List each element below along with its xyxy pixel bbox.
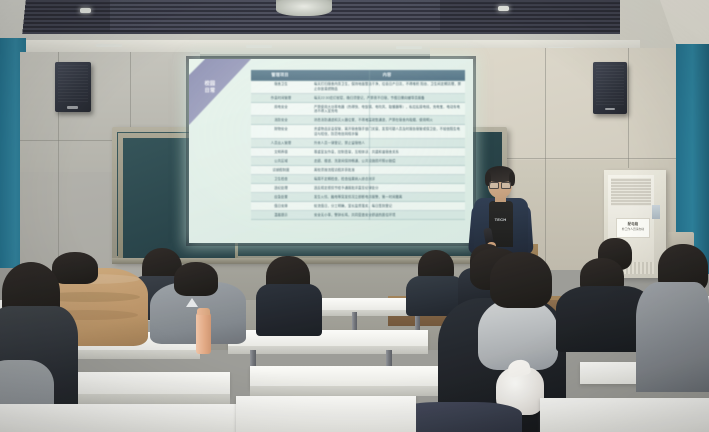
- student-tan-puffer-hair: [52, 252, 98, 284]
- table-cell-label: 消防安全: [251, 116, 311, 124]
- classroom-photo: 校园 日常 管理项目 内容 宿舍卫生每天打扫宿舍内务卫生，保持地面整洁干净，垃圾…: [0, 0, 709, 432]
- cabinet-vents: [611, 178, 651, 206]
- desk-row2: [250, 366, 470, 388]
- ceiling-slats-center: [110, 0, 440, 30]
- table-row: 消防安全熟悉消防通道和灭火器位置，不得堵塞疏散通道，严禁在宿舍内吸烟、使用明火: [251, 116, 465, 125]
- table-row: 值日安排轮流值日，分工明确，室长监督落实，每日签到登记: [251, 202, 465, 211]
- glasses-lens-left: [489, 182, 499, 189]
- student-gray-hoodie-hair: [174, 262, 218, 296]
- table-row: 温馨提示安全无小事，警钟长鸣，共同营造安全舒适的居住环境: [251, 211, 465, 220]
- table-cell-label: 请销假制度: [251, 166, 311, 174]
- slide-corner-notch: [189, 59, 205, 75]
- presenter-shirt-logo: TECH: [493, 218, 508, 226]
- desk-row1: [0, 404, 270, 432]
- speaker-grille: [596, 65, 625, 105]
- glasses-lens-right: [501, 182, 511, 189]
- table-cell-label: 文明养德: [251, 148, 311, 156]
- desk-edge: [250, 386, 470, 396]
- projected-slide: 校园 日常 管理项目 内容 宿舍卫生每天打扫宿舍内务卫生，保持地面整洁干净，垃圾…: [189, 59, 473, 243]
- table-row: 人员出入管理外来人员一律登记，禁止留宿他人: [251, 139, 465, 148]
- desk-row1-right: [540, 398, 709, 432]
- table-header-row: 管理项目 内容: [251, 70, 465, 81]
- table-cell-text: 安全无小事，警钟长鸣，共同营造安全舒适的居住环境: [311, 211, 465, 219]
- ceiling-light: [80, 8, 91, 13]
- ceiling-light: [498, 6, 509, 11]
- table-body: 宿舍卫生每天打扫宿舍内务卫生，保持地面整洁干净，垃圾日产日清，不得堆积 阳台、卫…: [251, 81, 465, 220]
- pink-thermos-bottle: [196, 312, 211, 354]
- table-header-cell: 管理项目: [251, 70, 309, 80]
- table-header-cell: 内容: [309, 70, 465, 80]
- table-cell-text: 每天打扫宿舍内务卫生，保持地面整洁干净，垃圾日产日清，不得堆积 阳台、卫生间定期…: [311, 81, 465, 93]
- table-row: 宿舍卫生每天打扫宿舍内务卫生，保持地面整洁干净，垃圾日产日清，不得堆积 阳台、卫…: [251, 81, 465, 94]
- table-cell-text: 违反规定视情节给予通报批评直至纪律处分: [311, 184, 465, 192]
- table-cell-label: 违纪处理: [251, 184, 311, 192]
- table-row: 作息时间管理每天22:30熄灯就寝，晚归须登记，严禁夜不归宿，节假日需向辅导员报…: [251, 94, 465, 103]
- desk-row1-center: [236, 396, 416, 432]
- table-cell-text: 每周不定期检查，检查结果纳入综合测评: [311, 175, 465, 183]
- speaker-led: [605, 108, 615, 111]
- student-navy-right: [636, 282, 709, 392]
- slide-corner-label: 校园 日常: [195, 81, 225, 94]
- table-cell-text: 外来人员一律登记，禁止留宿他人: [311, 139, 465, 147]
- table-cell-label: 人员出入管理: [251, 139, 311, 147]
- table-cell-text: 熟悉消防通道和灭火器位置，不得堵塞疏散通道，严禁在宿舍内吸烟、使用明火: [311, 116, 465, 124]
- thermos-cap: [197, 308, 210, 315]
- table-row: 公共区域走廊、楼道、洗漱间保持畅通，公共设施损坏照价赔偿: [251, 157, 465, 166]
- right-wall-speaker: [593, 62, 627, 114]
- table-row: 卫生检查每周不定期检查，检查结果纳入综合测评: [251, 175, 465, 184]
- student-black-top-back: [256, 284, 322, 336]
- table-cell-label: 卫生检查: [251, 175, 311, 183]
- slide-corner-label-line2: 日常: [195, 88, 225, 95]
- table-cell-text: 尊重室友作息，控制音量，互相体谅，共建和谐宿舍关系: [311, 148, 465, 156]
- table-row: 文明养德尊重室友作息，控制音量，互相体谅，共建和谐宿舍关系: [251, 148, 465, 157]
- table-row: 财物安全贵重物品妥善保管，离开宿舍随手锁门关窗，发现可疑人员及时报告宿管或保卫处…: [251, 125, 465, 138]
- cabinet-sign-title: 配电箱: [617, 219, 649, 227]
- desk-edge: [228, 346, 428, 354]
- table-cell-label: 财物安全: [251, 125, 311, 137]
- table-cell-text: 严禁使用大功率电器（热得快、电饭锅、电吹风、取暖器等），私拉乱接电线，充电宝、电…: [311, 103, 465, 115]
- table-cell-text: 离校须按流程请假并获批准: [311, 166, 465, 174]
- cabinet-sign: 配电箱 非工作人员请勿动: [616, 218, 650, 238]
- table-cell-label: 作息时间管理: [251, 94, 311, 102]
- glasses-icon: [489, 182, 511, 188]
- projector-fixture: [276, 0, 332, 16]
- cabinet-sign-subtitle: 非工作人员请勿动: [617, 227, 649, 231]
- slide-table: 管理项目 内容 宿舍卫生每天打扫宿舍内务卫生，保持地面整洁干净，垃圾日产日清，不…: [251, 70, 465, 220]
- table-cell-text: 轮流值日，分工明确，室长监督落实，每日签到登记: [311, 202, 465, 210]
- table-cell-label: 温馨提示: [251, 211, 311, 219]
- wall-seam: [628, 48, 629, 168]
- table-cell-text: 每天22:30熄灯就寝，晚归须登记，严禁夜不归宿，节假日需向辅导员报备: [311, 94, 465, 102]
- table-row: 应急处置发生火情、触电等突发情况立即断电并报警，第一时间撤离: [251, 193, 465, 202]
- student-gray-hood-hair: [490, 252, 552, 308]
- table-row: 用电安全严禁使用大功率电器（热得快、电饭锅、电吹风、取暖器等），私拉乱接电线，充…: [251, 103, 465, 116]
- table-cell-text: 走廊、楼道、洗漱间保持畅通，公共设施损坏照价赔偿: [311, 157, 465, 165]
- table-cell-label: 值日安排: [251, 202, 311, 210]
- table-row: 请销假制度离校须按流程请假并获批准: [251, 166, 465, 175]
- table-cell-label: 公共区域: [251, 157, 311, 165]
- table-row: 违纪处理违反规定视情节给予通报批评直至纪律处分: [251, 184, 465, 193]
- table-cell-label: 应急处置: [251, 193, 311, 201]
- table-cell-label: 用电安全: [251, 103, 311, 115]
- soffit-led: [96, 44, 122, 47]
- soffit-led: [246, 45, 272, 48]
- table-cell-text: 贵重物品妥善保管，离开宿舍随手锁门关窗，发现可疑人员及时报告宿管或保卫处，不轻信…: [311, 125, 465, 137]
- table-cell-label: 宿舍卫生: [251, 81, 311, 93]
- speaker-led: [67, 106, 78, 109]
- table-column-separator: [369, 70, 370, 220]
- table-cell-text: 发生火情、触电等突发情况立即断电并报警，第一时间撤离: [311, 193, 465, 201]
- cabinet-control-panel: [652, 205, 660, 219]
- soffit-led: [396, 46, 422, 49]
- left-wall-speaker: [55, 62, 91, 112]
- wall-seam: [130, 52, 131, 132]
- speaker-grille: [58, 65, 88, 103]
